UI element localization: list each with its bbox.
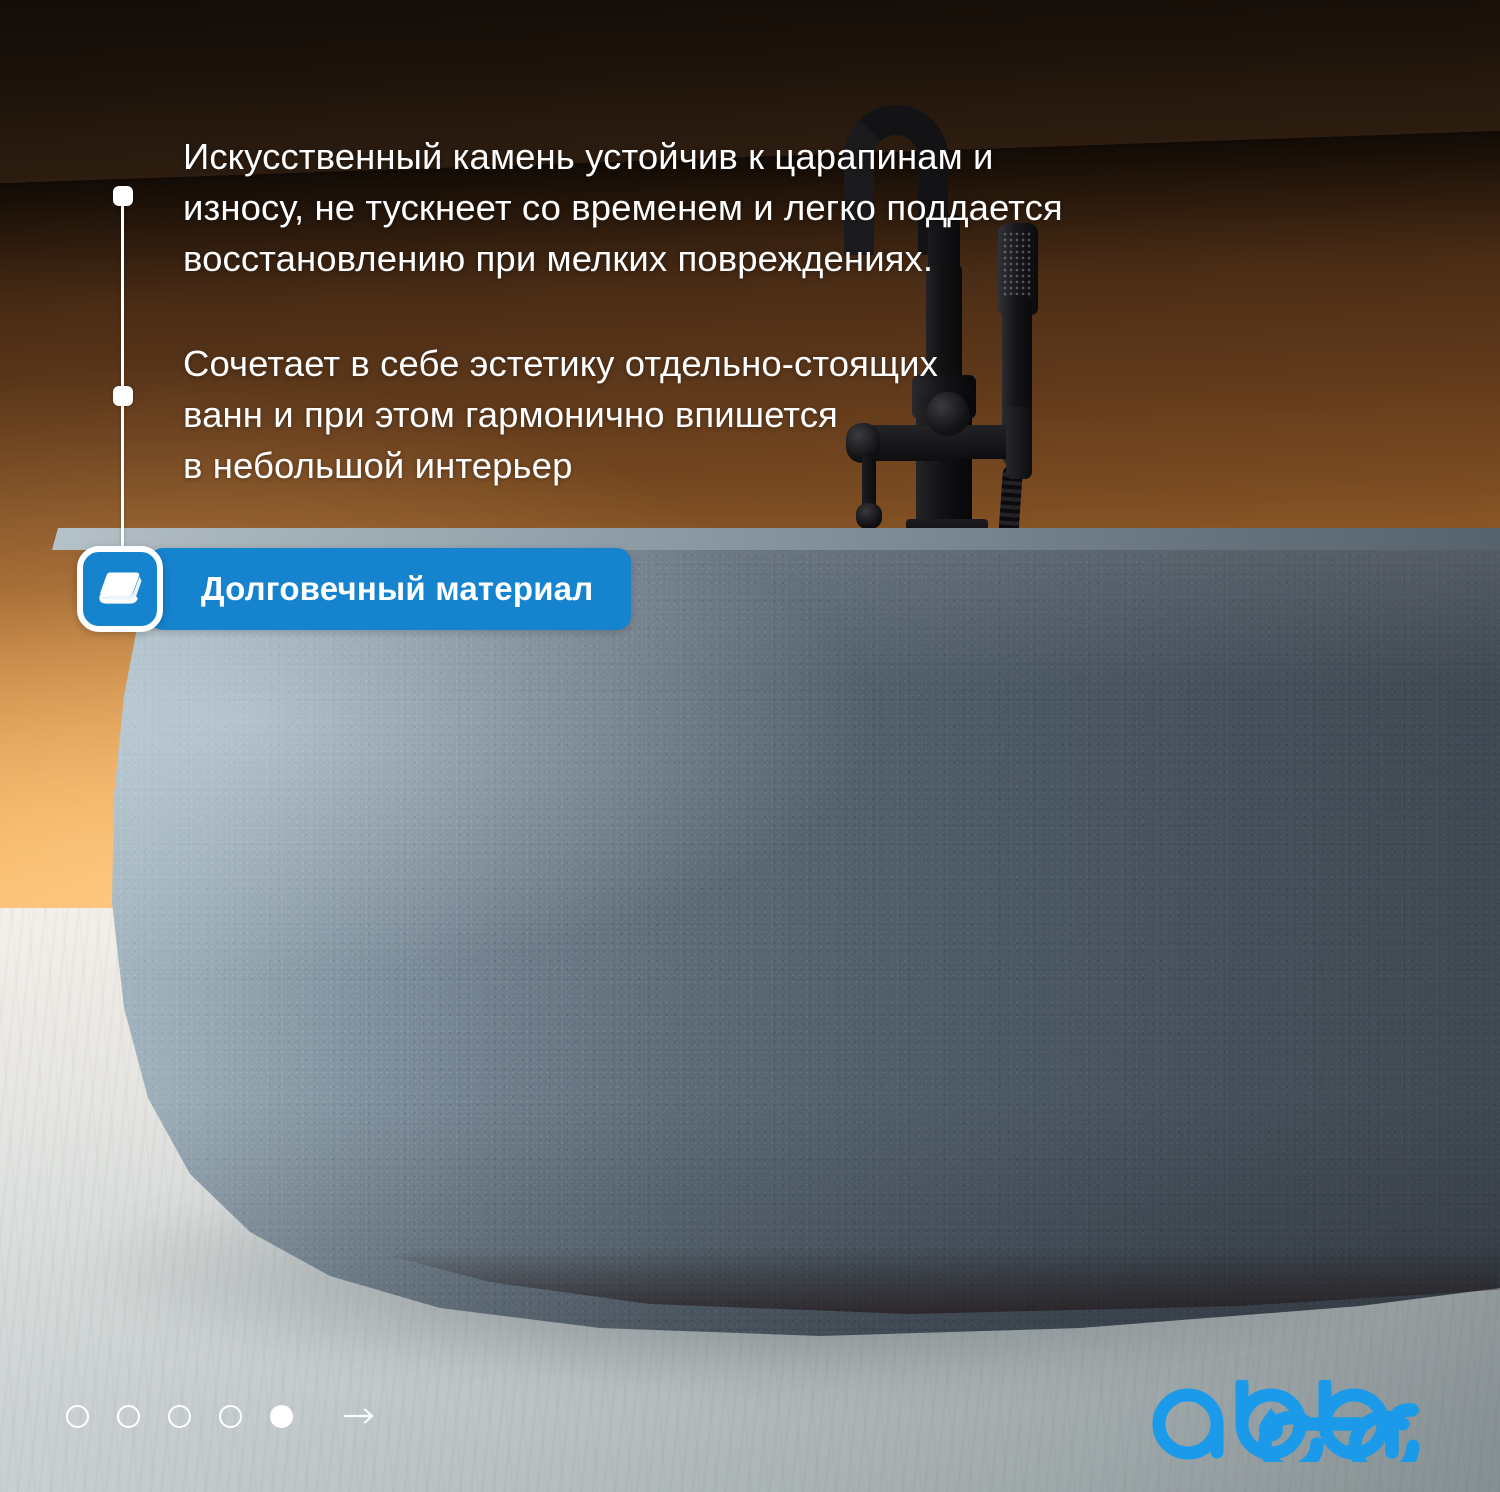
- bathtub-highlight: [0, 546, 1500, 1336]
- carousel-dot-5[interactable]: [270, 1405, 293, 1428]
- stone-bathtub: [0, 528, 1500, 1328]
- feature-paragraph-2: Сочетает в себе эстетику отдельно-стоящи…: [183, 338, 1043, 491]
- bathtub-body: [0, 546, 1500, 1336]
- feature-paragraph-1: Искусственный камень устойчив к царапина…: [183, 131, 1103, 284]
- carousel-dot-3[interactable]: [168, 1405, 191, 1428]
- promo-slide: Искусственный камень устойчив к царапина…: [0, 0, 1500, 1492]
- carousel-nav[interactable]: [66, 1404, 377, 1428]
- carousel-dot-2[interactable]: [117, 1405, 140, 1428]
- feature-badge-pill[interactable]: Долговечный материал: [149, 548, 631, 630]
- abber-logo: [1152, 1380, 1428, 1462]
- feature-badge[interactable]: Долговечный материал: [77, 546, 631, 632]
- carousel-dot-1[interactable]: [66, 1405, 89, 1428]
- connector-line: [112, 186, 134, 586]
- carousel-dot-4[interactable]: [219, 1405, 242, 1428]
- arrow-right-icon[interactable]: [343, 1404, 377, 1428]
- faucet-arm-drop-tip: [856, 503, 882, 529]
- connector-node-2: [113, 386, 133, 406]
- connector-node-1: [113, 186, 133, 206]
- feature-badge-label: Долговечный материал: [201, 570, 593, 608]
- stone-slab-icon: [77, 546, 163, 632]
